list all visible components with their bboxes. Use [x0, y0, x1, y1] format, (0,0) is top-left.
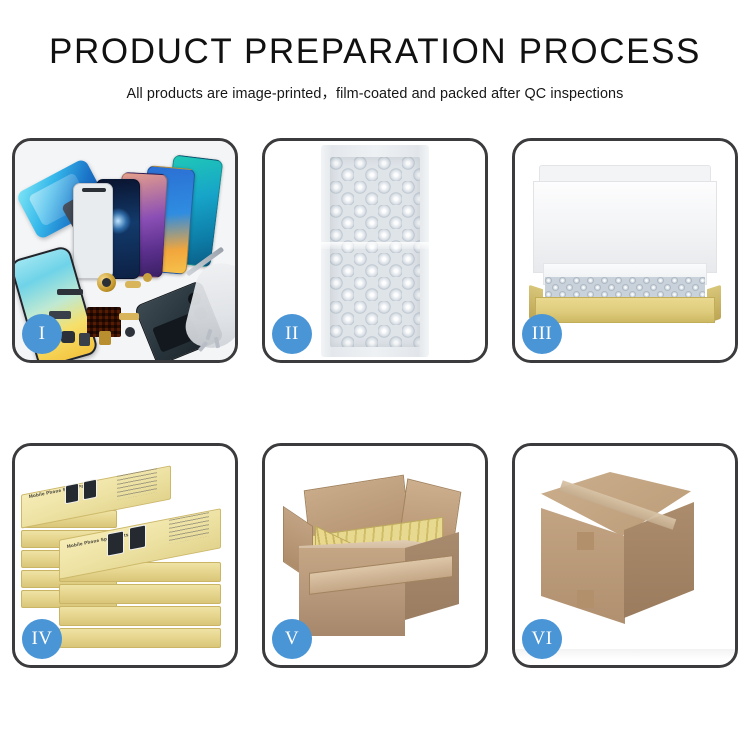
bubble-pouch: [321, 145, 429, 357]
speaker-coil-icon: [97, 273, 116, 292]
phone-glass-icon: [73, 183, 113, 279]
step-badge-5: V: [272, 619, 312, 659]
carton-tab: [577, 590, 594, 608]
carton-tab: [577, 532, 594, 550]
header: PRODUCT PREPARATION PROCESS All products…: [0, 0, 750, 103]
process-step-5[interactable]: V: [262, 443, 488, 668]
step-badge-2: II: [272, 314, 312, 354]
step-badge-1: I: [22, 314, 62, 354]
box-tray-front: [535, 297, 715, 323]
flex-cable-icon: [57, 289, 83, 295]
infographic-page: PRODUCT PREPARATION PROCESS All products…: [0, 0, 750, 750]
battery-tab-icon: [99, 331, 111, 345]
connector-icon: [125, 281, 141, 288]
stacked-box: [59, 628, 221, 648]
process-step-6[interactable]: VI: [512, 443, 738, 668]
camera-module-icon: [61, 331, 75, 343]
vibrator-icon: [79, 333, 90, 346]
page-subtitle: All products are image-printed，film-coat…: [0, 82, 750, 103]
process-step-2[interactable]: II: [262, 138, 488, 363]
process-step-grid: I II: [12, 138, 738, 683]
stacked-box: [59, 606, 221, 626]
page-title: PRODUCT PREPARATION PROCESS: [0, 34, 750, 71]
button-part-icon: [143, 273, 152, 282]
stacked-box: [59, 584, 221, 604]
box-phone-image: [107, 530, 124, 556]
step-badge-4: IV: [22, 619, 62, 659]
process-step-3[interactable]: III: [512, 138, 738, 363]
box-phone-image: [83, 479, 97, 501]
gold-cable-icon: [119, 313, 139, 320]
process-step-4[interactable]: Mobile Phone Spare Parts Mobile Phone Sp…: [12, 443, 238, 668]
bubble-grid: [330, 157, 420, 347]
box-lid-face: [533, 181, 717, 273]
step-badge-6: VI: [522, 619, 562, 659]
box-phone-image: [129, 524, 146, 550]
sealed-carton: [535, 472, 721, 644]
pouch-seam: [321, 242, 429, 249]
process-step-1[interactable]: I: [12, 138, 238, 363]
screw-cap-icon: [125, 327, 135, 337]
step-badge-3: III: [522, 314, 562, 354]
box-phone-image: [65, 483, 79, 505]
open-carton: [281, 468, 473, 644]
mailer-box: [529, 165, 721, 327]
